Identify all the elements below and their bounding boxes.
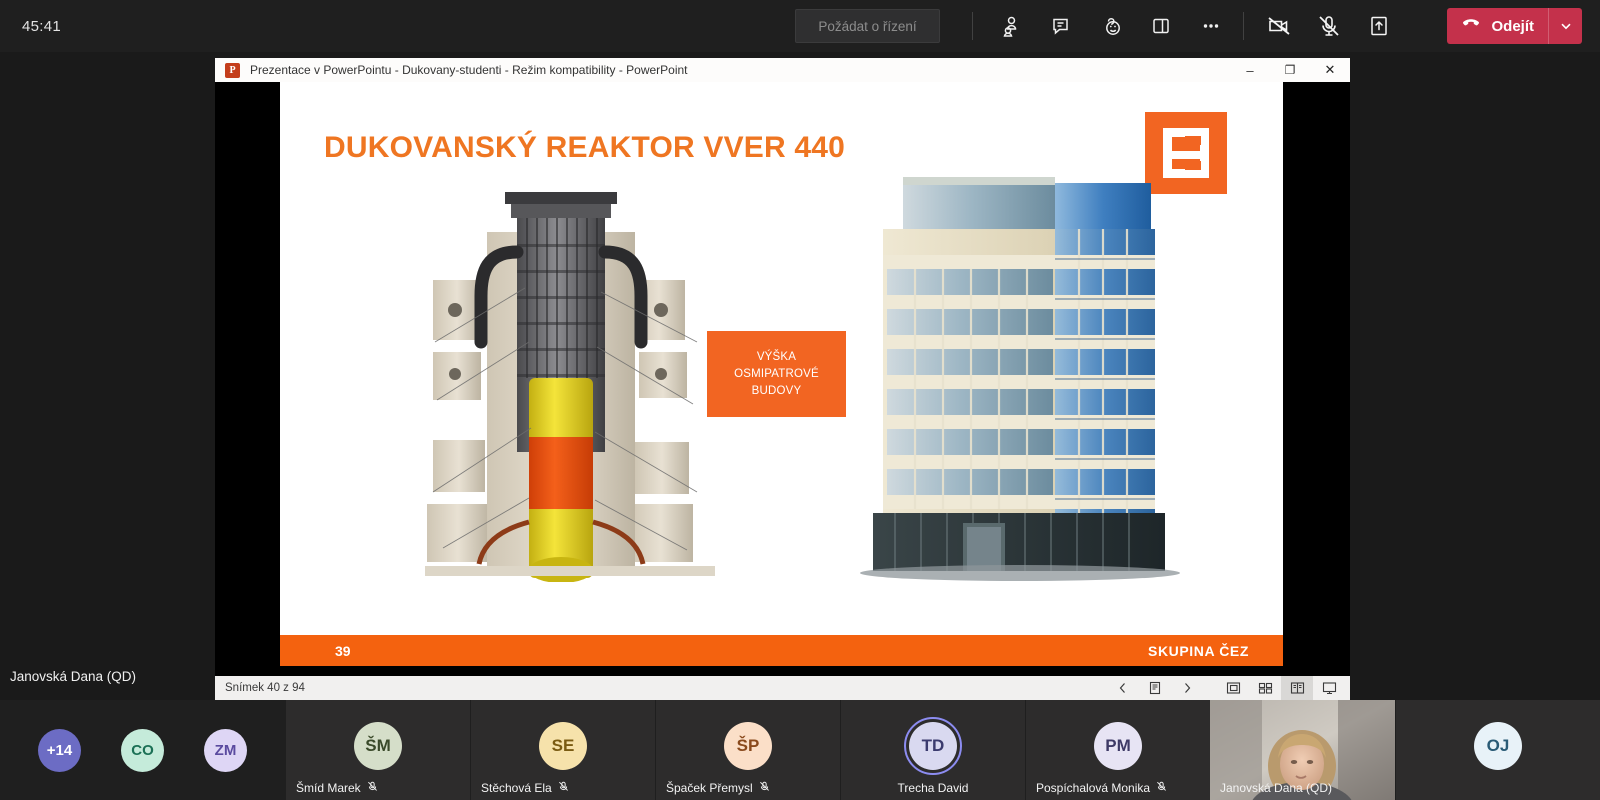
slide-number: 39	[335, 643, 351, 659]
avatar: SE	[539, 722, 587, 770]
request-control-button[interactable]: Požádat o řízení	[795, 9, 940, 43]
cez-logo-notch-bottom	[1185, 161, 1201, 170]
slide-content: DUKOVANSKÝ REAKTOR VVER 440	[280, 82, 1283, 666]
mic-off-icon	[759, 781, 770, 795]
shared-screen-region: P Prezentace v PowerPointu - Dukovany-st…	[215, 58, 1350, 700]
avatar: OJ	[1474, 722, 1522, 770]
participant-name: Stěchová Ela	[481, 781, 569, 795]
powerpoint-title-bar: P Prezentace v PowerPointu - Dukovany-st…	[215, 58, 1350, 82]
meeting-controls-group	[990, 6, 1232, 46]
participant-avatar-zm[interactable]: ZM	[204, 729, 247, 772]
slide-counter-label: Snímek 40 z 94	[225, 682, 305, 694]
close-button[interactable]: ✕	[1310, 58, 1350, 82]
restore-button[interactable]: ❐	[1270, 58, 1310, 82]
cez-logo-notch-top	[1185, 136, 1201, 145]
participant-name-text: Špaček Přemysl	[666, 781, 753, 795]
breakout-rooms-icon[interactable]	[1140, 6, 1182, 46]
participant-avatar-co[interactable]: CO	[121, 729, 164, 772]
avatar: ŠM	[354, 722, 402, 770]
participant-name: Pospíchalová Monika	[1036, 781, 1167, 795]
meeting-timer: 45:41	[22, 18, 61, 35]
participant-tile-trecha[interactable]: TD Trecha David	[840, 700, 1025, 800]
leave-label: Odejít	[1491, 18, 1534, 35]
participant-name-text: Janovská Dana (QD)	[1220, 781, 1332, 795]
more-options-icon[interactable]	[1190, 6, 1232, 46]
powerpoint-status-bar: Snímek 40 z 94	[215, 676, 1350, 700]
office-building-illustration	[855, 167, 1185, 587]
participant-name-text: Trecha David	[898, 781, 969, 795]
callout-box: VÝŠKA OSMIPATROVÉ BUDOVY	[707, 331, 846, 417]
participant-name-text: Šmíd Marek	[296, 781, 361, 795]
callout-line-2: OSMIPATROVÉ	[734, 366, 819, 383]
av-controls-group	[1258, 6, 1400, 46]
callout-line-3: BUDOVY	[752, 383, 802, 400]
leave-button[interactable]: Odejít	[1447, 8, 1582, 44]
callout-line-1: VÝŠKA	[757, 349, 796, 366]
teams-top-bar: 45:41 Požádat o řízení	[0, 0, 1600, 52]
hangup-icon	[1460, 13, 1482, 40]
participant-name: Janovská Dana (QD)	[1220, 781, 1332, 795]
slide-thumbnail-icon[interactable]	[1139, 676, 1171, 700]
participant-name: Špaček Přemysl	[666, 781, 770, 795]
participant-tile-janovska-video[interactable]: Janovská Dana (QD)	[1210, 700, 1395, 800]
mic-off-icon	[558, 781, 569, 795]
normal-view-icon[interactable]	[1217, 676, 1249, 700]
slideshow-icon[interactable]	[1313, 676, 1345, 700]
overflow-count-avatar[interactable]: +14	[38, 729, 81, 772]
minimize-button[interactable]: –	[1230, 58, 1270, 82]
mic-off-icon[interactable]	[1308, 6, 1350, 46]
slide-brand: SKUPINA ČEZ	[1148, 643, 1249, 659]
chevron-down-icon[interactable]	[1548, 8, 1582, 44]
participant-tile-oj[interactable]: OJ	[1395, 700, 1600, 800]
powerpoint-canvas: DUKOVANSKÝ REAKTOR VVER 440	[215, 82, 1350, 676]
participant-tile-pospichalova[interactable]: PM Pospíchalová Monika	[1025, 700, 1210, 800]
overflow-participants-cell[interactable]: +14 CO ZM	[0, 700, 285, 800]
mic-off-icon	[367, 781, 378, 795]
participant-name: Šmíd Marek	[296, 781, 378, 795]
participant-name-text: Pospíchalová Monika	[1036, 781, 1150, 795]
slide-sorter-icon[interactable]	[1249, 676, 1281, 700]
reactor-illustration	[425, 192, 715, 582]
next-slide-icon[interactable]	[1171, 676, 1203, 700]
mic-off-icon	[1156, 781, 1167, 795]
participant-tile-smid[interactable]: ŠM Šmíd Marek	[285, 700, 470, 800]
request-control-container: Požádat o řízení	[795, 9, 940, 43]
leave-main[interactable]: Odejít	[1447, 8, 1548, 44]
toolbar-divider-left	[972, 12, 973, 40]
teams-meeting-window: 45:41 Požádat o řízení	[0, 0, 1600, 800]
slide-title: DUKOVANSKÝ REAKTOR VVER 440	[324, 131, 845, 165]
powerpoint-icon: P	[225, 63, 240, 78]
active-speaker-ring: TD	[904, 717, 962, 775]
participant-name: Trecha David	[841, 781, 1025, 795]
participant-tile-spacek[interactable]: ŠP Špaček Přemysl	[655, 700, 840, 800]
slide-footer: 39 SKUPINA ČEZ	[280, 635, 1283, 666]
powerpoint-title: Prezentace v PowerPointu - Dukovany-stud…	[250, 63, 688, 77]
camera-off-icon[interactable]	[1258, 6, 1300, 46]
view-controls	[1107, 676, 1345, 700]
avatar: ŠP	[724, 722, 772, 770]
window-buttons: – ❐ ✕	[1230, 58, 1350, 82]
presenter-name-label: Janovská Dana (QD)	[10, 669, 136, 684]
previous-slide-icon[interactable]	[1107, 676, 1139, 700]
people-icon[interactable]	[990, 6, 1032, 46]
toolbar-divider-right	[1243, 12, 1244, 40]
participant-filmstrip: +14 CO ZM ŠM Šmíd Marek SE Stěchová Ela	[0, 700, 1600, 800]
participant-tile-stechova[interactable]: SE Stěchová Ela	[470, 700, 655, 800]
chat-icon[interactable]	[1040, 6, 1082, 46]
share-screen-icon[interactable]	[1358, 6, 1400, 46]
reading-view-icon[interactable]	[1281, 676, 1313, 700]
avatar: PM	[1094, 722, 1142, 770]
participant-name-text: Stěchová Ela	[481, 781, 552, 795]
reactions-icon[interactable]	[1090, 6, 1132, 46]
avatar: TD	[909, 722, 957, 770]
